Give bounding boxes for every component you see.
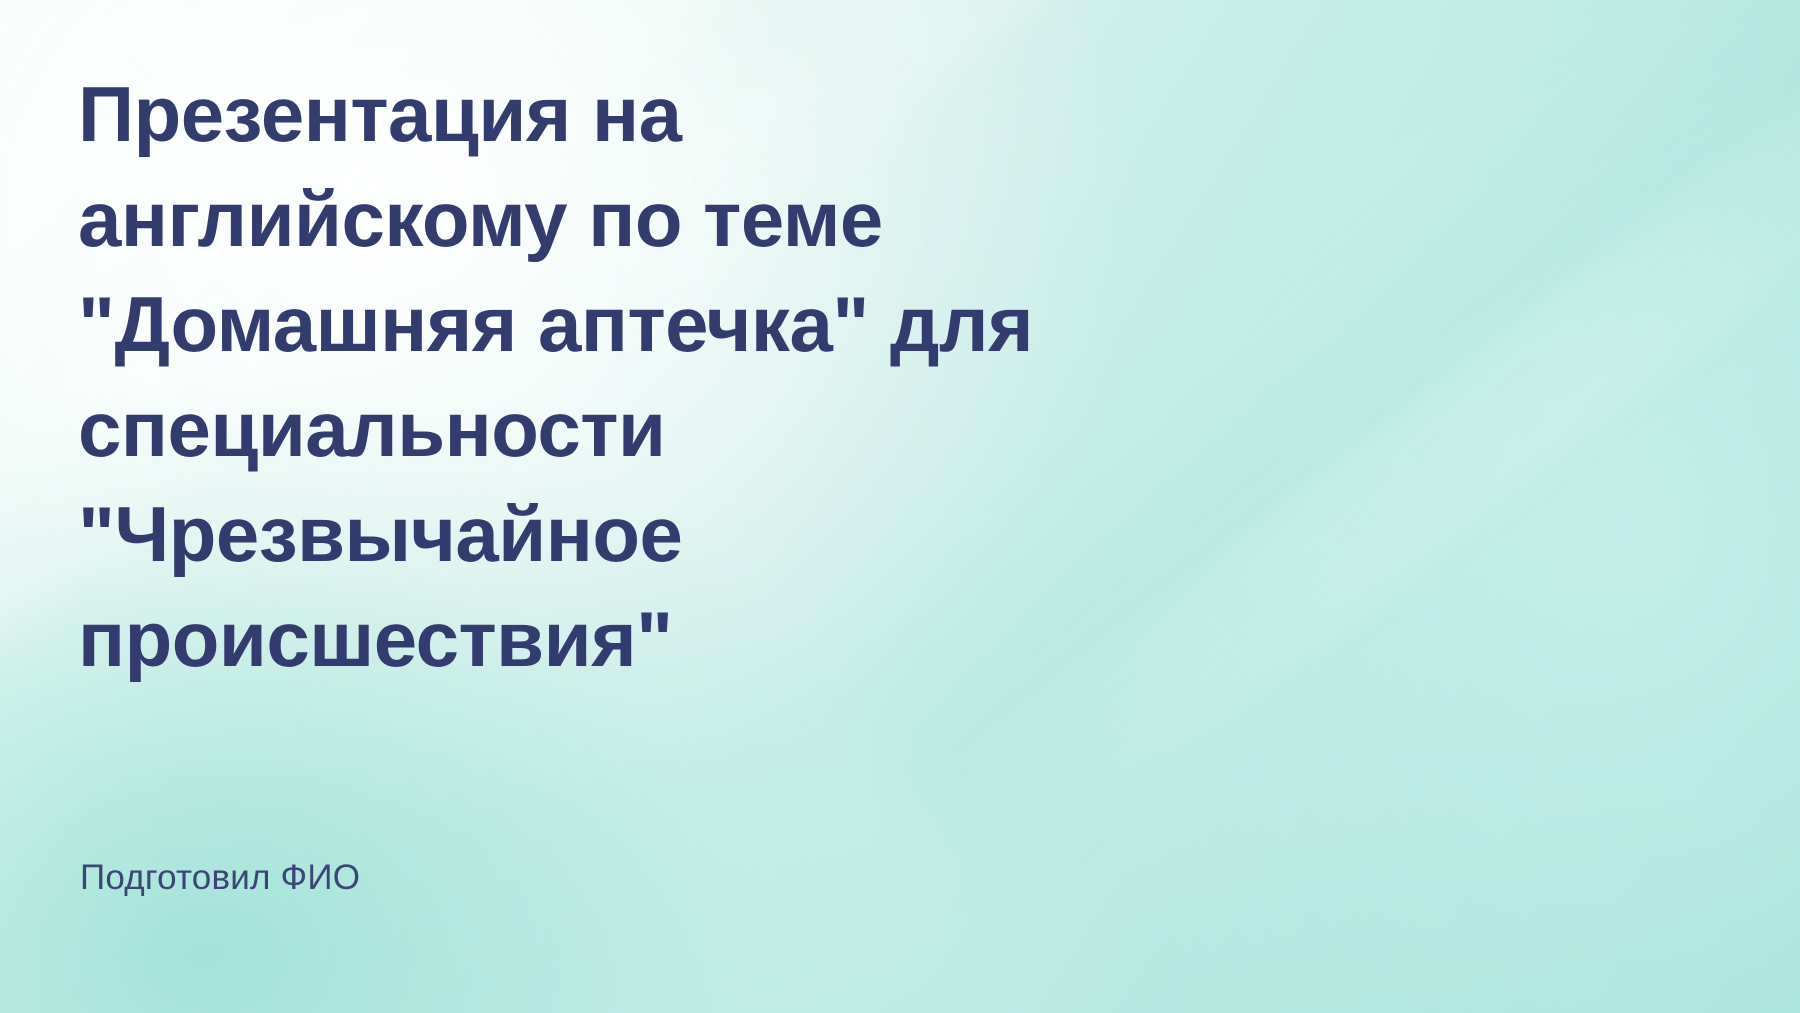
slide-title: Презентация на английскому по теме "Дома…	[78, 62, 1558, 692]
slide-author: Подготовил ФИО	[80, 856, 360, 900]
title-slide: Презентация на английскому по теме "Дома…	[0, 0, 1800, 1013]
slide-content: Презентация на английскому по теме "Дома…	[78, 0, 1598, 1013]
